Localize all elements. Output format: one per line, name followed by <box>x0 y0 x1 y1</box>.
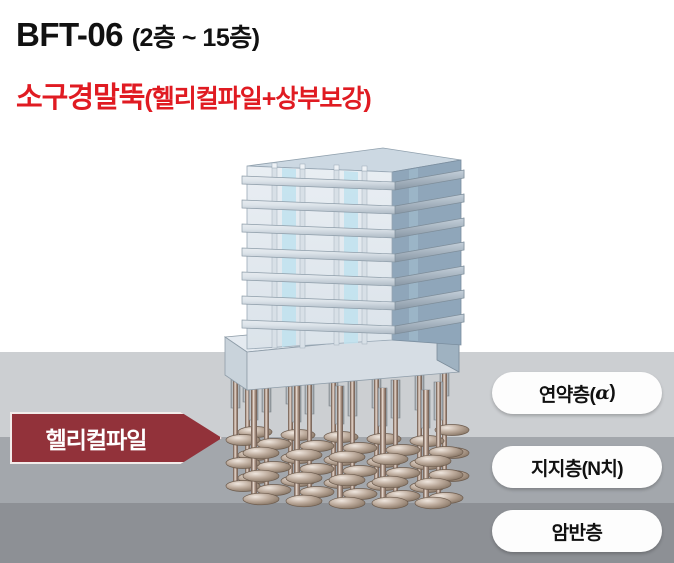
stratum-label-bearing: 지지층(N치) <box>492 446 662 488</box>
stratum-label-soft-soil-prefix: 연약층( <box>539 380 595 407</box>
title-floor-range: (2층 ~ 15층) <box>132 24 260 52</box>
stratum-label-soft-soil: 연약층(α) <box>492 372 662 414</box>
subtitle-method-detail: (헬리컬파일+상부보강) <box>144 85 370 113</box>
title-code: BFT-06 <box>16 16 123 53</box>
stratum-label-bedrock: 암반층 <box>492 510 662 552</box>
alpha-symbol: α <box>595 382 609 404</box>
diagram-canvas: BFT-06 (2층 ~ 15층) 소구경말뚝(헬리컬파일+상부보강) 헬리컬파… <box>0 0 674 563</box>
helical-pile-callout: 헬리컬파일 <box>10 412 222 464</box>
subtitle-method: 소구경말뚝 <box>16 82 144 114</box>
callout-label: 헬리컬파일 <box>10 412 182 464</box>
tower-body <box>242 148 464 349</box>
stratum-label-bearing-text: 지지층(N치) <box>531 454 623 481</box>
stratum-label-soft-soil-suffix: ) <box>609 382 615 404</box>
page-subtitle: 소구경말뚝(헬리컬파일+상부보강) <box>16 84 371 113</box>
stratum-label-bedrock-text: 암반층 <box>552 518 603 545</box>
page-title: BFT-06 (2층 ~ 15층) <box>16 18 260 51</box>
